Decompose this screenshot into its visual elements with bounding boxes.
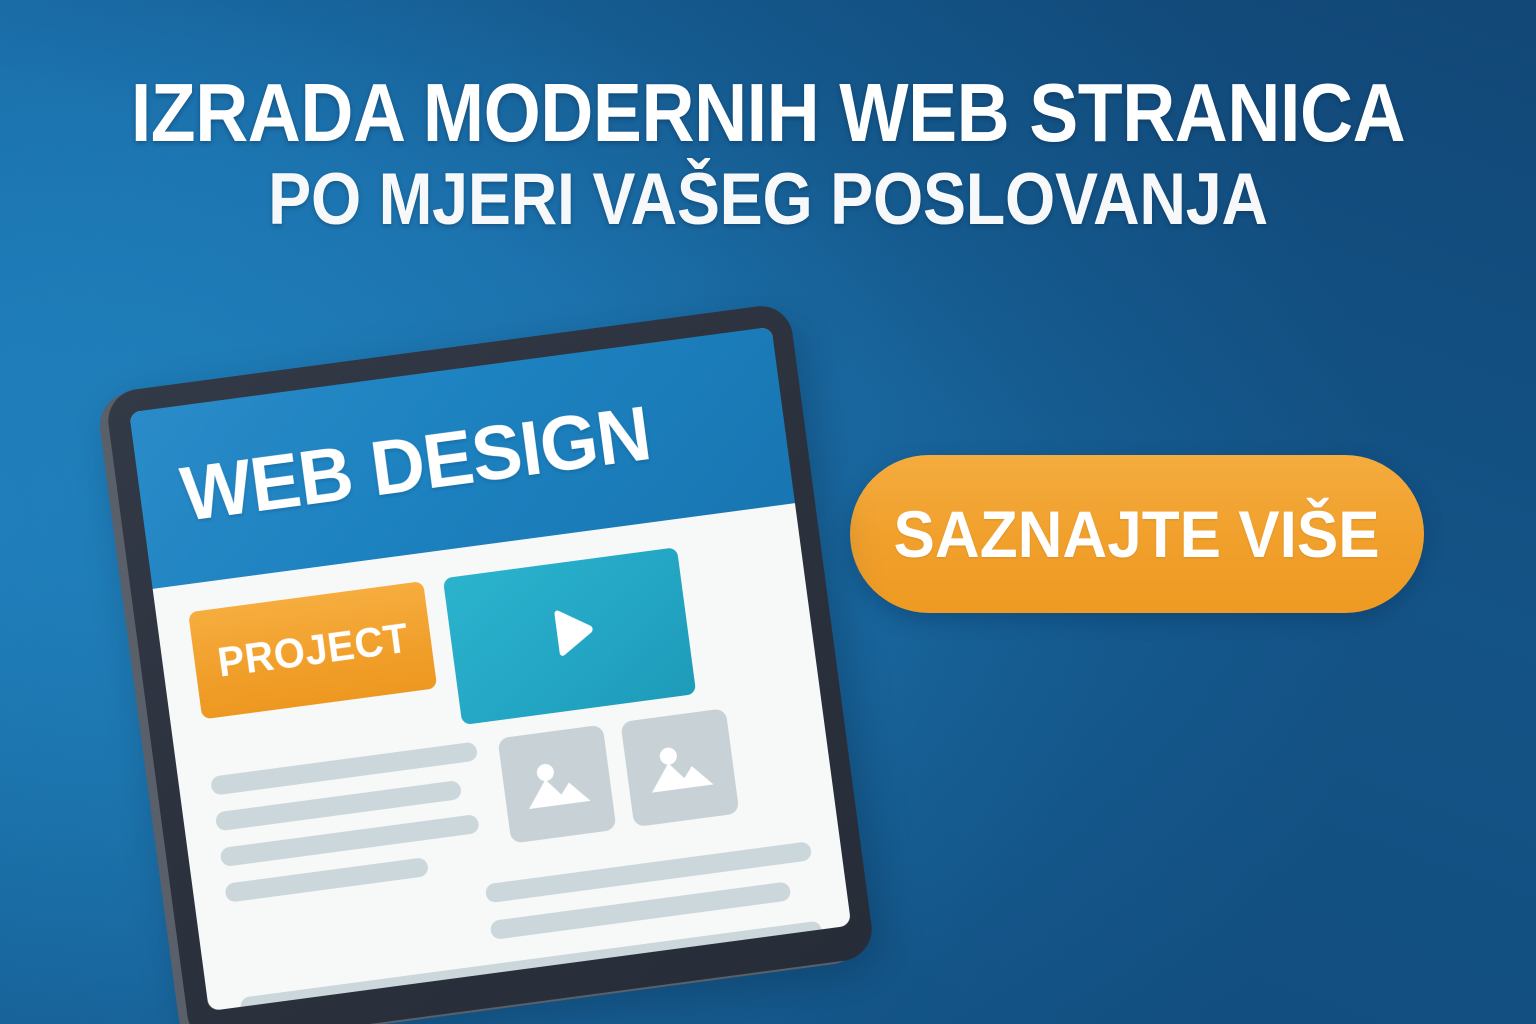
text-placeholder-bar [224,857,428,903]
image-placeholder-icon [639,734,720,801]
image-placeholder-thumbnail[interactable] [497,725,616,844]
headline-secondary: PO MJERI VAŠEG POSLOVANJA [88,159,1447,241]
text-placeholder-column [210,739,493,902]
video-thumbnail[interactable] [443,547,697,725]
image-placeholder-thumbnail[interactable] [620,708,739,827]
project-button[interactable]: PROJECT [188,581,437,719]
website-content-area: PROJECT [153,503,852,1011]
image-placeholder-icon [517,750,598,817]
headline-block: IZRADA MODERNIH WEB STRANICA PO MJERI VA… [0,72,1536,241]
saznajte-vise-button[interactable]: SAZNAJTE VIŠE [850,455,1424,613]
promo-banner: IZRADA MODERNIH WEB STRANICA PO MJERI VA… [0,0,1536,1024]
tablet-screen: WEB DESIGN PROJECT [129,327,851,1011]
tablet-frame: WEB DESIGN PROJECT [104,302,875,1024]
cta-button-label: SAZNAJTE VIŠE [894,496,1380,572]
website-header-title: WEB DESIGN [176,389,655,540]
project-button-label: PROJECT [214,614,410,687]
tablet-illustration: WEB DESIGN PROJECT [104,302,875,1024]
play-icon [529,596,610,677]
headline-primary: IZRADA MODERNIH WEB STRANICA [88,72,1447,153]
image-thumbnail-column [497,697,807,864]
